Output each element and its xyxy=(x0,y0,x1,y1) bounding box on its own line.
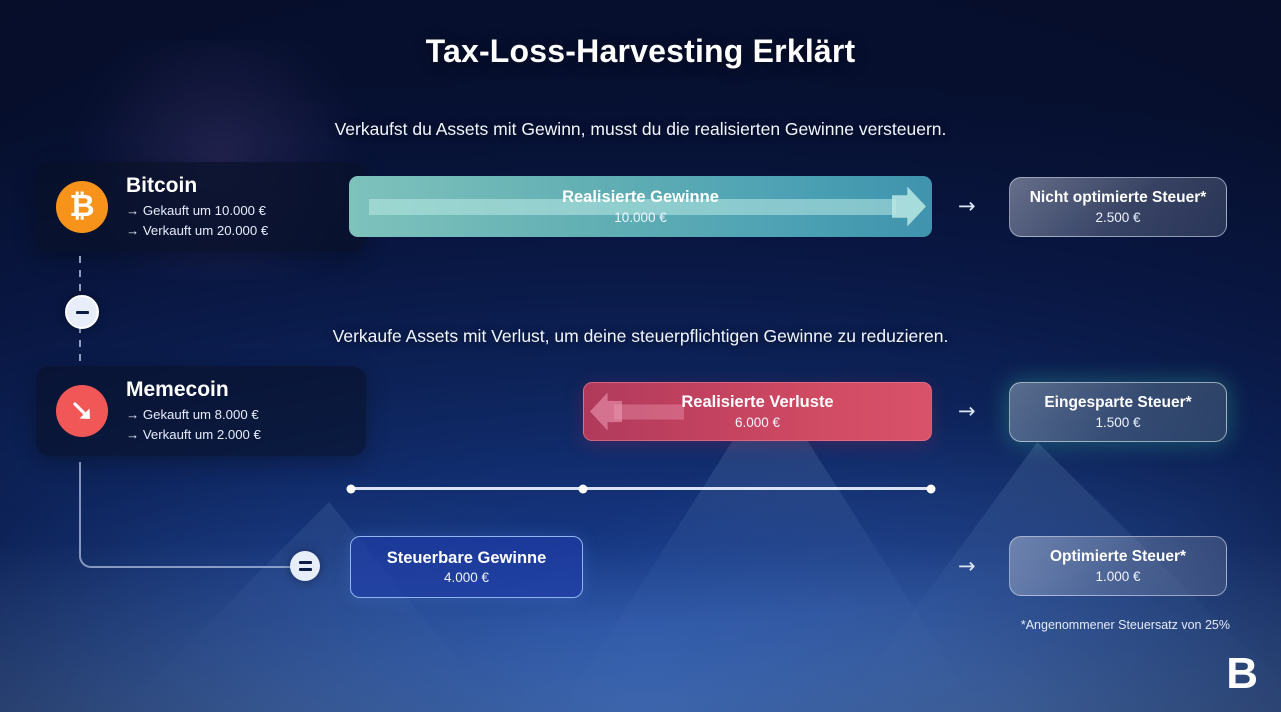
result-box-taxable-gains: Steuerbare Gewinne 4.000 € xyxy=(350,536,583,598)
measure-dot-left xyxy=(347,484,356,493)
equals-icon-bottom xyxy=(299,568,312,571)
arrow-right-icon xyxy=(892,187,926,227)
asset-sold-memecoin: → Verkauft um 2.000 € xyxy=(126,425,261,444)
asset-info-memecoin: Memecoin → Gekauft um 8.000 € → Verkauft… xyxy=(126,378,261,444)
bar-gains-value: 10.000 € xyxy=(562,210,719,225)
saved-value: 1.500 € xyxy=(1095,415,1140,430)
taxable-title: Steuerbare Gewinne xyxy=(387,549,547,569)
measure-dot-middle xyxy=(579,484,588,493)
taxable-value: 4.000 € xyxy=(444,570,489,585)
result-box-optimized-tax: Optimierte Steuer* 1.000 € xyxy=(1009,536,1227,596)
subtitle-losses: Verkaufe Assets mit Verlust, um deine st… xyxy=(0,326,1281,347)
infographic-canvas: Tax-Loss-Harvesting Erklärt Verkaufst du… xyxy=(0,0,1281,712)
operator-badge-equals xyxy=(290,551,320,581)
untaxed-title: Nicht optimierte Steuer* xyxy=(1030,189,1207,208)
asset-card-memecoin: Memecoin → Gekauft um 8.000 € → Verkauft… xyxy=(36,366,366,456)
bar-losses-labels: Realisierte Verluste 6.000 € xyxy=(681,393,833,430)
asset-card-bitcoin: ₿ Bitcoin → Gekauft um 10.000 € → Verkau… xyxy=(36,162,366,252)
brand-logo: B xyxy=(1226,652,1257,696)
measure-dot-right xyxy=(927,484,936,493)
page-title: Tax-Loss-Harvesting Erklärt xyxy=(0,33,1281,70)
asset-info-bitcoin: Bitcoin → Gekauft um 10.000 € → Verkauft… xyxy=(126,174,268,240)
bar-gains-labels: Realisierte Gewinne 10.000 € xyxy=(562,188,719,225)
result-box-untaxed-tax: Nicht optimierte Steuer* 2.500 € xyxy=(1009,177,1227,237)
asset-sold-bitcoin: → Verkauft um 20.000 € xyxy=(126,221,268,240)
asset-bought-bitcoin: → Gekauft um 10.000 € xyxy=(126,201,268,220)
bar-realised-losses: Realisierte Verluste 6.000 € xyxy=(583,382,932,441)
arrow-link-gains-to-untaxed: → xyxy=(958,196,976,217)
bitcoin-icon: ₿ xyxy=(56,181,108,233)
bitcoin-icon-glyph: ₿ xyxy=(69,191,94,222)
arrow-left-icon xyxy=(590,393,622,431)
arrow-down-right-icon xyxy=(56,385,108,437)
background-vignette xyxy=(0,0,1281,712)
arrow-link-losses-to-saved: → xyxy=(958,401,976,422)
footnote-tax-rate: *Angenommener Steuersatz von 25% xyxy=(920,618,1230,632)
bar-losses-title: Realisierte Verluste xyxy=(681,393,833,413)
minus-icon xyxy=(76,311,89,314)
asset-bought-memecoin: → Gekauft um 8.000 € xyxy=(126,405,261,424)
optimized-value: 1.000 € xyxy=(1095,569,1140,584)
optimized-title: Optimierte Steuer* xyxy=(1050,548,1186,567)
operator-badge-minus xyxy=(65,295,99,329)
saved-title: Eingesparte Steuer* xyxy=(1044,394,1191,413)
subtitle-gains: Verkaufst du Assets mit Gewinn, musst du… xyxy=(0,119,1281,140)
bar-gains-title: Realisierte Gewinne xyxy=(562,188,719,208)
equals-icon-top xyxy=(299,561,312,564)
bar-realised-gains: Realisierte Gewinne 10.000 € xyxy=(349,176,932,237)
measurement-line xyxy=(351,487,931,490)
asset-name-bitcoin: Bitcoin xyxy=(126,174,268,198)
bar-losses-value: 6.000 € xyxy=(681,415,833,430)
result-box-saved-tax: Eingesparte Steuer* 1.500 € xyxy=(1009,382,1227,442)
untaxed-value: 2.500 € xyxy=(1095,210,1140,225)
losses-arrow-shaft xyxy=(614,404,684,419)
connector-bracket xyxy=(79,462,296,568)
asset-name-memecoin: Memecoin xyxy=(126,378,261,402)
arrow-link-taxable-to-optimized: → xyxy=(958,556,976,577)
